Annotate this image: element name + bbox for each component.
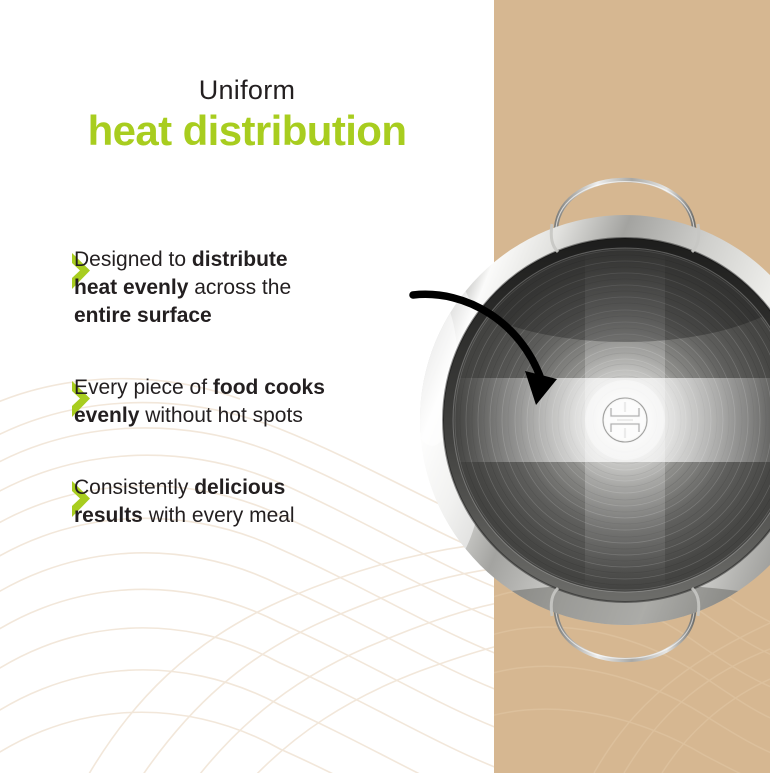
list-item-text: Every piece of food cooks evenly without… [70, 374, 326, 430]
chevron-right-icon [0, 246, 70, 290]
eyebrow-text: Uniform [0, 76, 494, 104]
heat-flow-arrow [405, 275, 580, 420]
chevron-right-icon [0, 474, 70, 518]
list-item-text: Consistently delicious results with ever… [70, 474, 326, 530]
curved-arrow-icon [413, 294, 557, 405]
list-item-text: Designed to distribute heat evenly acros… [70, 246, 326, 330]
chevron-right-icon [0, 374, 70, 418]
infographic-canvas: Uniform heat distribution Designed to di… [0, 0, 770, 773]
